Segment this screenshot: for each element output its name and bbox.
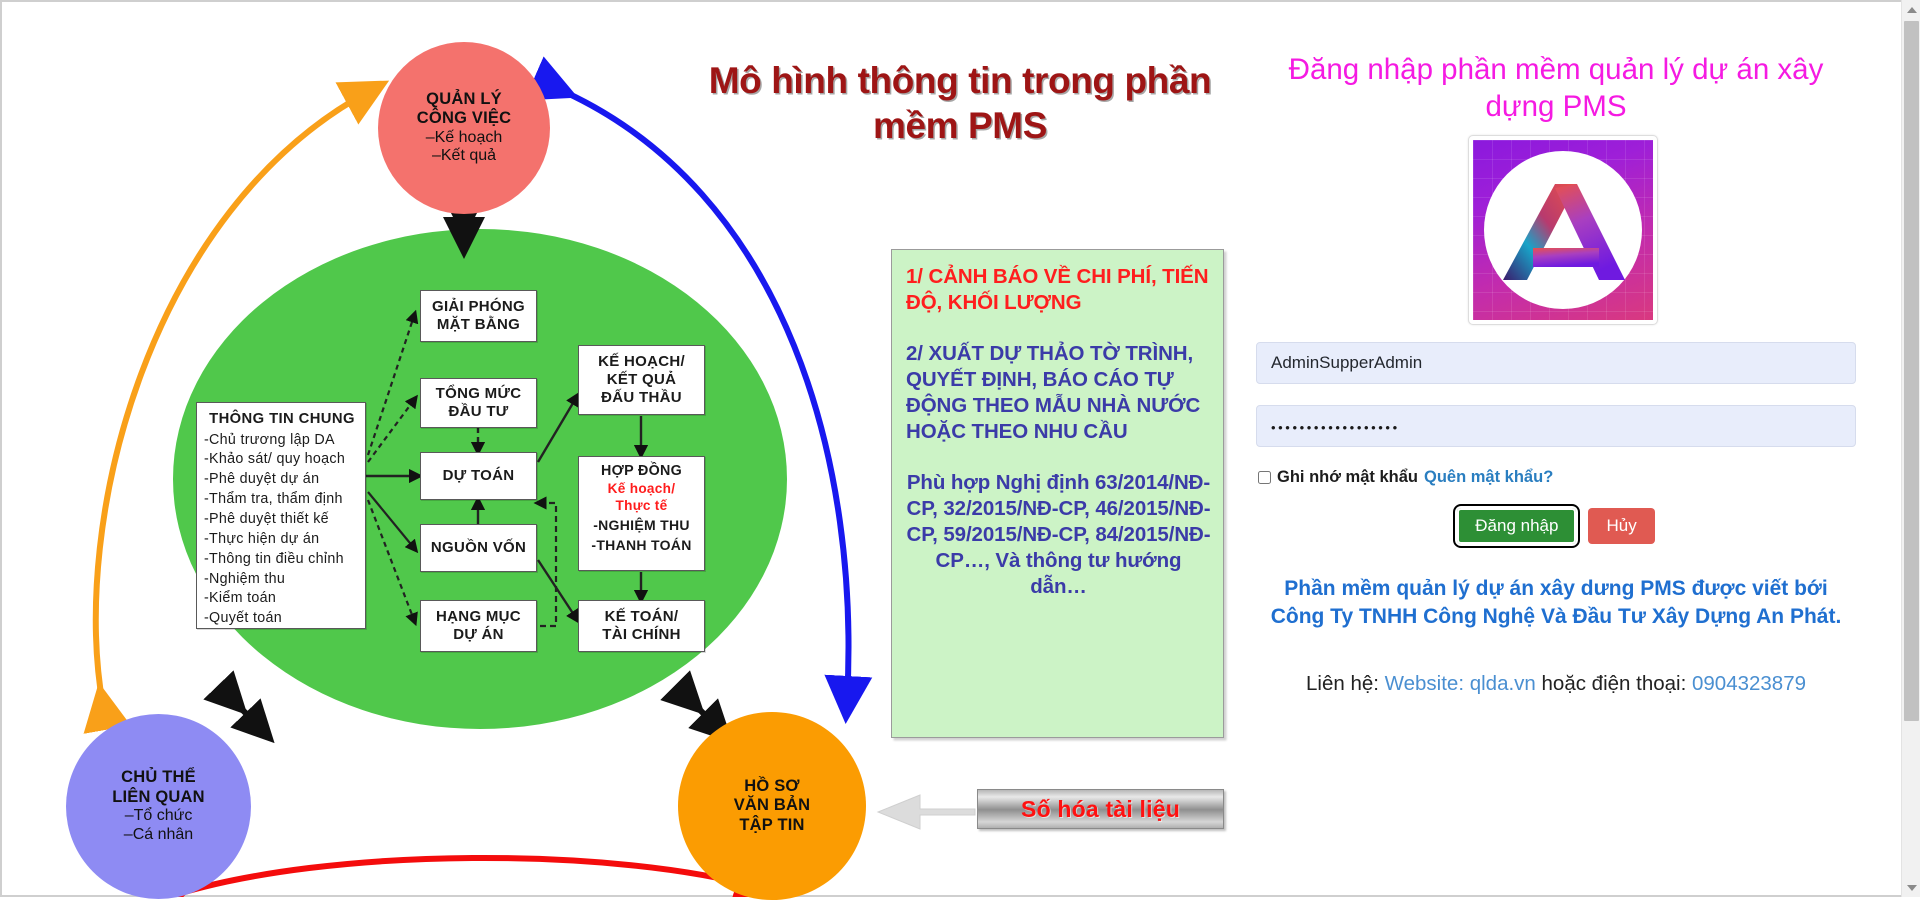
box-line: TỔNG MỨC [436,385,522,403]
remember-password-row: Ghi nhớ mật khẩu Quên mật khẩu? [1258,468,1858,487]
circle-subject-line4: –Cá nhân [124,826,193,845]
forgot-password-link[interactable]: Quên mật khẩu? [1424,468,1553,487]
circle-work-management: QUẢN LÝ CÔNG VIỆC –Kế hoạch –Kết quả [378,42,550,214]
information-model-diagram: Mô hình thông tin trong phần mềm PMS [0,0,1250,897]
box-line: HẠNG MỤC [436,608,521,626]
box-line: -THANH TOÁN [591,537,691,554]
info-item: -Nghiệm thu [204,570,285,590]
info-item: -Thông tin điều chỉnh [204,550,344,570]
circle-docs-line2: VĂN BẢN [734,796,811,815]
login-heading: Đăng nhập phần mềm quản lý dự án xây dựn… [1256,52,1856,126]
box-project-items: HẠNG MỤC DỰ ÁN [420,600,537,652]
cancel-button[interactable]: Hủy [1588,508,1654,544]
box-line: ĐẦU TƯ [448,403,508,421]
app-logo [1468,135,1658,325]
box-line-red: Thực tế [616,498,668,514]
box-contract: HỢP ĐỒNG Kế hoạch/ Thực tế -NGHIỆM THU -… [578,456,705,571]
info-item: -Chủ trương lập DA [204,431,335,451]
box-line: MẶT BẰNG [437,316,520,334]
website-link[interactable]: Website: qlda.vn [1385,672,1536,695]
box-bidding-plan-result: KẾ HOẠCH/ KẾT QUẢ ĐẤU THẦU [578,345,705,415]
contact-prefix: Liên hệ: [1306,672,1385,695]
info-item: -Thực hiện dự án [204,530,319,550]
callout-part-2: 2/ XUẤT DỰ THẢO TỜ TRÌNH, QUYẾT ĐỊNH, BÁ… [906,341,1211,445]
info-item: -Khảo sát/ quy hoạch [204,450,345,470]
circle-subject-line2: LIÊN QUAN [112,788,205,807]
login-panel: Đăng nhập phần mềm quản lý dự án xây dựn… [1256,0,1901,897]
info-item: -Quyết toán [204,609,282,629]
box-line: NGUỒN VỐN [431,539,526,557]
phone-number[interactable]: 0904323879 [1692,672,1806,695]
info-item: -Kiểm toán [204,589,276,609]
box-accounting-finance: KẾ TOÁN/ TÀI CHÍNH [578,600,705,652]
box-total-investment: TỔNG MỨC ĐẦU TƯ [420,378,537,428]
circle-work-line1: QUẢN LÝ [426,90,502,109]
circle-docs-line3: TẬP TIN [739,816,804,835]
box-site-clearance: GIẢI PHÓNG MẶT BẰNG [420,290,537,342]
contact-middle: hoặc điện thoại: [1536,672,1692,695]
app-logo-artwork [1473,140,1653,320]
remember-password-label: Ghi nhớ mật khẩu [1277,468,1418,487]
contact-line: Liên hệ: Website: qlda.vn hoặc điện thoạ… [1256,672,1856,696]
features-callout-panel: 1/ CẢNH BÁO VỀ CHI PHÍ, TIẾN ĐỘ, KHỐI LƯ… [891,249,1224,738]
box-line: DỰ ÁN [453,626,504,644]
callout-part-3: Phù hợp Nghị định 63/2014/NĐ-CP, 32/2015… [906,470,1211,600]
box-line: HỢP ĐỒNG [601,463,682,480]
box-line: KẾ TOÁN/ [605,608,679,626]
login-button-row: Đăng nhập Hủy [1256,508,1856,544]
box-line: GIẢI PHÓNG [432,298,525,316]
box-line: KẾ HOẠCH/ [598,353,685,371]
box-capital-source: NGUỒN VỐN [420,524,537,572]
digitize-documents-banner: Số hóa tài liệu [977,789,1224,829]
box-line: KẾT QUẢ [607,371,677,389]
circle-subject-line3: –Tổ chức [125,807,193,826]
remember-password-checkbox[interactable] [1258,471,1271,484]
circle-related-subjects: CHỦ THỂ LIÊN QUAN –Tổ chức –Cá nhân [66,714,251,899]
box-general-information: THÔNG TIN CHUNG -Chủ trương lập DA -Khảo… [196,402,366,629]
scroll-up-arrow-icon[interactable] [1902,0,1920,19]
login-button[interactable]: Đăng nhập [1457,508,1576,544]
box-line: ĐẤU THẦU [601,389,682,407]
box-line-red: Kế hoạch/ [608,481,676,497]
circle-work-line4: –Kết quả [432,147,496,166]
info-item: -Phê duyệt thiết kế [204,510,329,530]
scroll-down-arrow-icon[interactable] [1902,878,1920,897]
logo-letter-a-icon [1473,140,1653,320]
username-input[interactable]: AdminSupperAdmin [1256,342,1856,384]
info-item: -Thẩm tra, thẩm định [204,490,343,510]
digitize-documents-label: Số hóa tài liệu [1021,796,1180,823]
password-masked-value: •••••••••••••••••• [1271,421,1400,434]
box-line: TÀI CHÍNH [602,626,681,644]
vertical-scrollbar[interactable] [1901,0,1920,897]
info-box-header: THÔNG TIN CHUNG [204,409,360,430]
circle-subject-line1: CHỦ THỂ [121,768,196,787]
password-input[interactable]: •••••••••••••••••• [1256,405,1856,447]
info-item: -Phê duyệt dự án [204,470,319,490]
scrollbar-thumb[interactable] [1904,21,1919,721]
box-line: -NGHIỆM THU [593,517,690,534]
circle-work-line3: –Kế hoạch [426,129,503,148]
circle-docs-line1: HỒ SƠ [744,777,799,796]
callout-part-1: 1/ CẢNH BÁO VỀ CHI PHÍ, TIẾN ĐỘ, KHỐI LƯ… [906,264,1211,316]
circle-work-line2: CÔNG VIỆC [417,109,511,128]
software-credit-text: Phần mềm quản lý dự án xây dưng PMS được… [1256,575,1856,631]
box-estimate: DỰ TOÁN [420,452,537,500]
box-line: DỰ TOÁN [443,467,515,485]
circle-documents-files: HỒ SƠ VĂN BẢN TẬP TIN [678,712,866,900]
